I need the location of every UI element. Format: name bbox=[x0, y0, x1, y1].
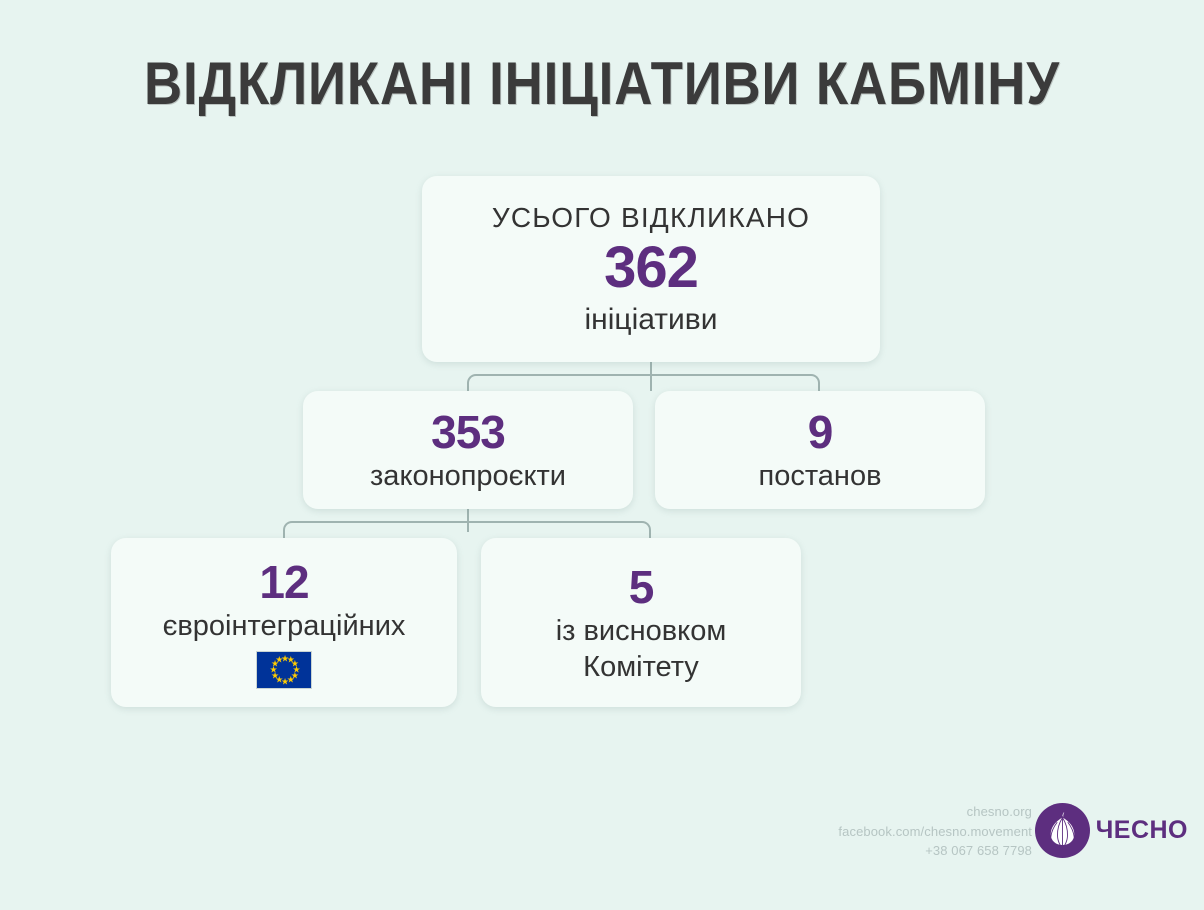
node-eurointegration-value: 12 bbox=[259, 556, 308, 608]
footer-website[interactable]: chesno.org bbox=[838, 802, 1032, 822]
node-committee-label-line2: Комітету bbox=[583, 649, 699, 685]
node-resolutions: 9 постанов bbox=[655, 391, 985, 509]
node-bills-label: законопроєкти bbox=[370, 458, 566, 494]
page-title: ВІДКЛИКАНІ ІНІЦІАТИВИ КАБМІНУ bbox=[72, 52, 1132, 116]
node-total-label: ініціативи bbox=[585, 301, 718, 338]
footer-phone: +38 067 658 7798 bbox=[838, 841, 1032, 861]
footer: chesno.org facebook.com/chesno.movement … bbox=[0, 800, 1204, 880]
brand-name: ЧЕСНО bbox=[1096, 816, 1188, 845]
node-total-value: 362 bbox=[604, 237, 698, 299]
node-resolutions-value: 9 bbox=[808, 406, 833, 458]
node-total: УСЬОГО ВІДКЛИКАНО 362 ініціативи bbox=[422, 176, 880, 362]
footer-facebook[interactable]: facebook.com/chesno.movement bbox=[838, 822, 1032, 842]
node-bills: 353 законопроєкти bbox=[303, 391, 633, 509]
node-eurointegration-label: євроінтеграційних bbox=[163, 608, 406, 644]
node-eurointegration: 12 євроінтеграційних bbox=[111, 538, 457, 707]
brand-logo: ЧЕСНО bbox=[1035, 803, 1188, 858]
garlic-icon bbox=[1035, 803, 1090, 858]
connector-total-bracket bbox=[467, 374, 820, 392]
eu-flag-icon bbox=[256, 651, 312, 689]
node-total-caption: УСЬОГО ВІДКЛИКАНО bbox=[492, 201, 810, 235]
node-committee-label-line1: із висновком bbox=[556, 613, 727, 649]
node-committee-value: 5 bbox=[629, 561, 654, 613]
node-committee: 5 із висновком Комітету bbox=[481, 538, 801, 707]
node-bills-value: 353 bbox=[431, 406, 505, 458]
contact-block: chesno.org facebook.com/chesno.movement … bbox=[838, 802, 1032, 861]
infographic-canvas: ВІДКЛИКАНІ ІНІЦІАТИВИ КАБМІНУ УСЬОГО ВІД… bbox=[0, 0, 1204, 910]
connector-bills-bracket bbox=[283, 521, 651, 539]
node-resolutions-label: постанов bbox=[759, 458, 882, 494]
